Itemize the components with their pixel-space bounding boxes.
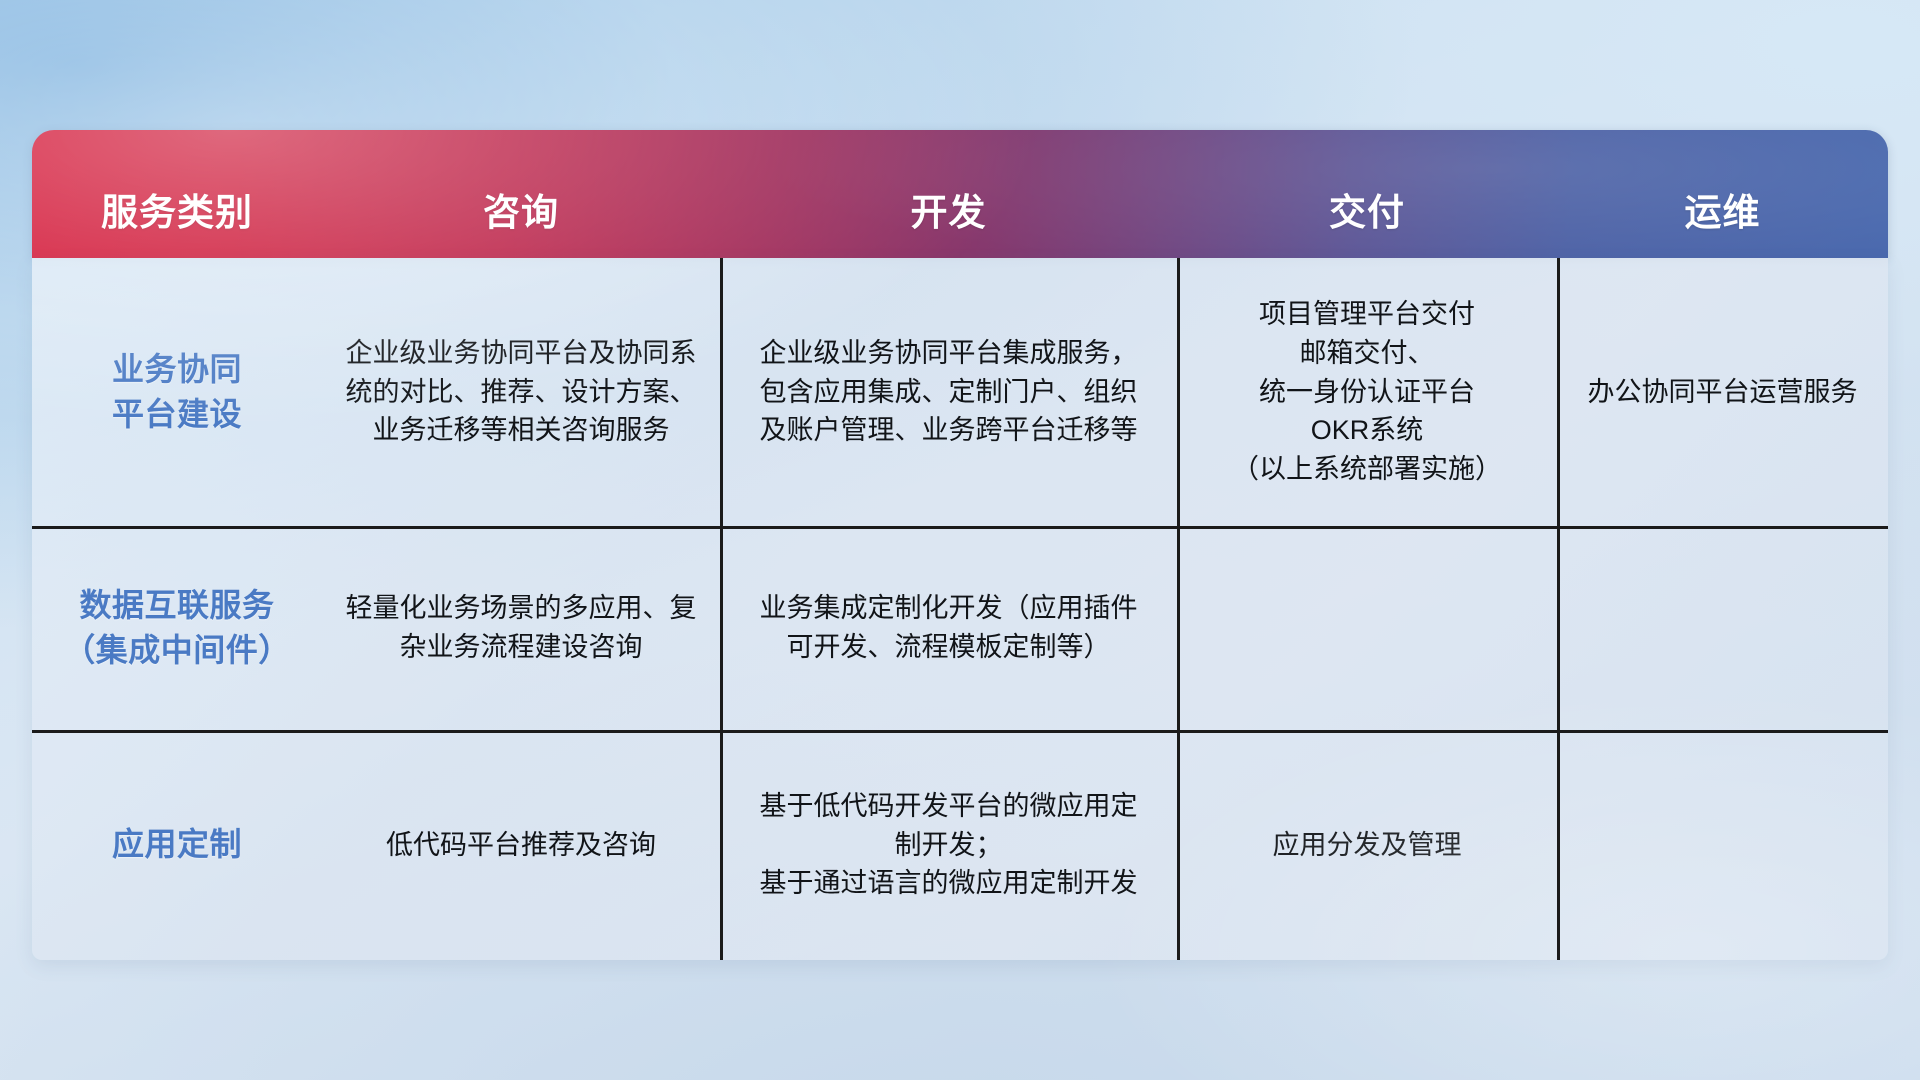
table-header-label: 服务类别 xyxy=(101,182,253,236)
table-cell-consulting: 企业级业务协同平台及协同系 统的对比、推荐、设计方案、 业务迁移等相关咨询服务 xyxy=(322,258,720,526)
table-row: 业务协同 平台建设 企业级业务协同平台及协同系 统的对比、推荐、设计方案、 业务… xyxy=(32,258,1888,526)
column-divider-delivery-operations xyxy=(1557,258,1560,960)
row-divider-1 xyxy=(32,526,1888,529)
table-cell-operations xyxy=(1557,730,1888,960)
column-divider-development-delivery xyxy=(1177,258,1180,960)
service-matrix-table: 服务类别 咨询 开发 交付 运维 xyxy=(32,130,1888,960)
table-cell-delivery xyxy=(1177,526,1557,730)
table-header-cell-consulting: 咨询 xyxy=(322,130,720,258)
table-cell-category: 数据互联服务 （集成中间件） xyxy=(32,526,322,730)
table-row: 数据互联服务 （集成中间件） 轻量化业务场景的多应用、复 杂业务流程建设咨询 业… xyxy=(32,526,1888,730)
column-divider-consulting-development xyxy=(720,258,723,960)
table-header-cell-operations: 运维 xyxy=(1557,130,1888,258)
table-cell-category: 应用定制 xyxy=(32,730,322,960)
table-header-cell-development: 开发 xyxy=(720,130,1177,258)
table-cell-development: 企业级业务协同平台集成服务， 包含应用集成、定制门户、组织 及账户管理、业务跨平… xyxy=(720,258,1177,526)
table-cell-consulting: 轻量化业务场景的多应用、复 杂业务流程建设咨询 xyxy=(322,526,720,730)
table-header-label: 咨询 xyxy=(483,182,559,236)
table-cell-development: 基于低代码开发平台的微应用定 制开发； 基于通过语言的微应用定制开发 xyxy=(720,730,1177,960)
table-cell-delivery: 项目管理平台交付 邮箱交付、 统一身份认证平台 OKR系统 （以上系统部署实施） xyxy=(1177,258,1557,526)
table-cell-operations xyxy=(1557,526,1888,730)
table-cell-delivery: 应用分发及管理 xyxy=(1177,730,1557,960)
table-cell-development: 业务集成定制化开发（应用插件 可开发、流程模板定制等） xyxy=(720,526,1177,730)
table-cell-operations: 办公协同平台运营服务 xyxy=(1557,258,1888,526)
table-row: 应用定制 低代码平台推荐及咨询 基于低代码开发平台的微应用定 制开发； 基于通过… xyxy=(32,730,1888,960)
table-cell-category: 业务协同 平台建设 xyxy=(32,258,322,526)
page-root: 服务类别 咨询 开发 交付 运维 xyxy=(0,0,1920,1080)
table-body: 业务协同 平台建设 企业级业务协同平台及协同系 统的对比、推荐、设计方案、 业务… xyxy=(32,258,1888,960)
row-divider-2 xyxy=(32,730,1888,733)
table-header-label: 开发 xyxy=(911,182,987,236)
table-header-cell-delivery: 交付 xyxy=(1177,130,1557,258)
table-header-cell-service-category: 服务类别 xyxy=(32,130,322,258)
table-header-row: 服务类别 咨询 开发 交付 运维 xyxy=(32,130,1888,258)
table-header-label: 交付 xyxy=(1329,182,1405,236)
table-header-label: 运维 xyxy=(1685,182,1761,236)
table-cell-consulting: 低代码平台推荐及咨询 xyxy=(322,730,720,960)
